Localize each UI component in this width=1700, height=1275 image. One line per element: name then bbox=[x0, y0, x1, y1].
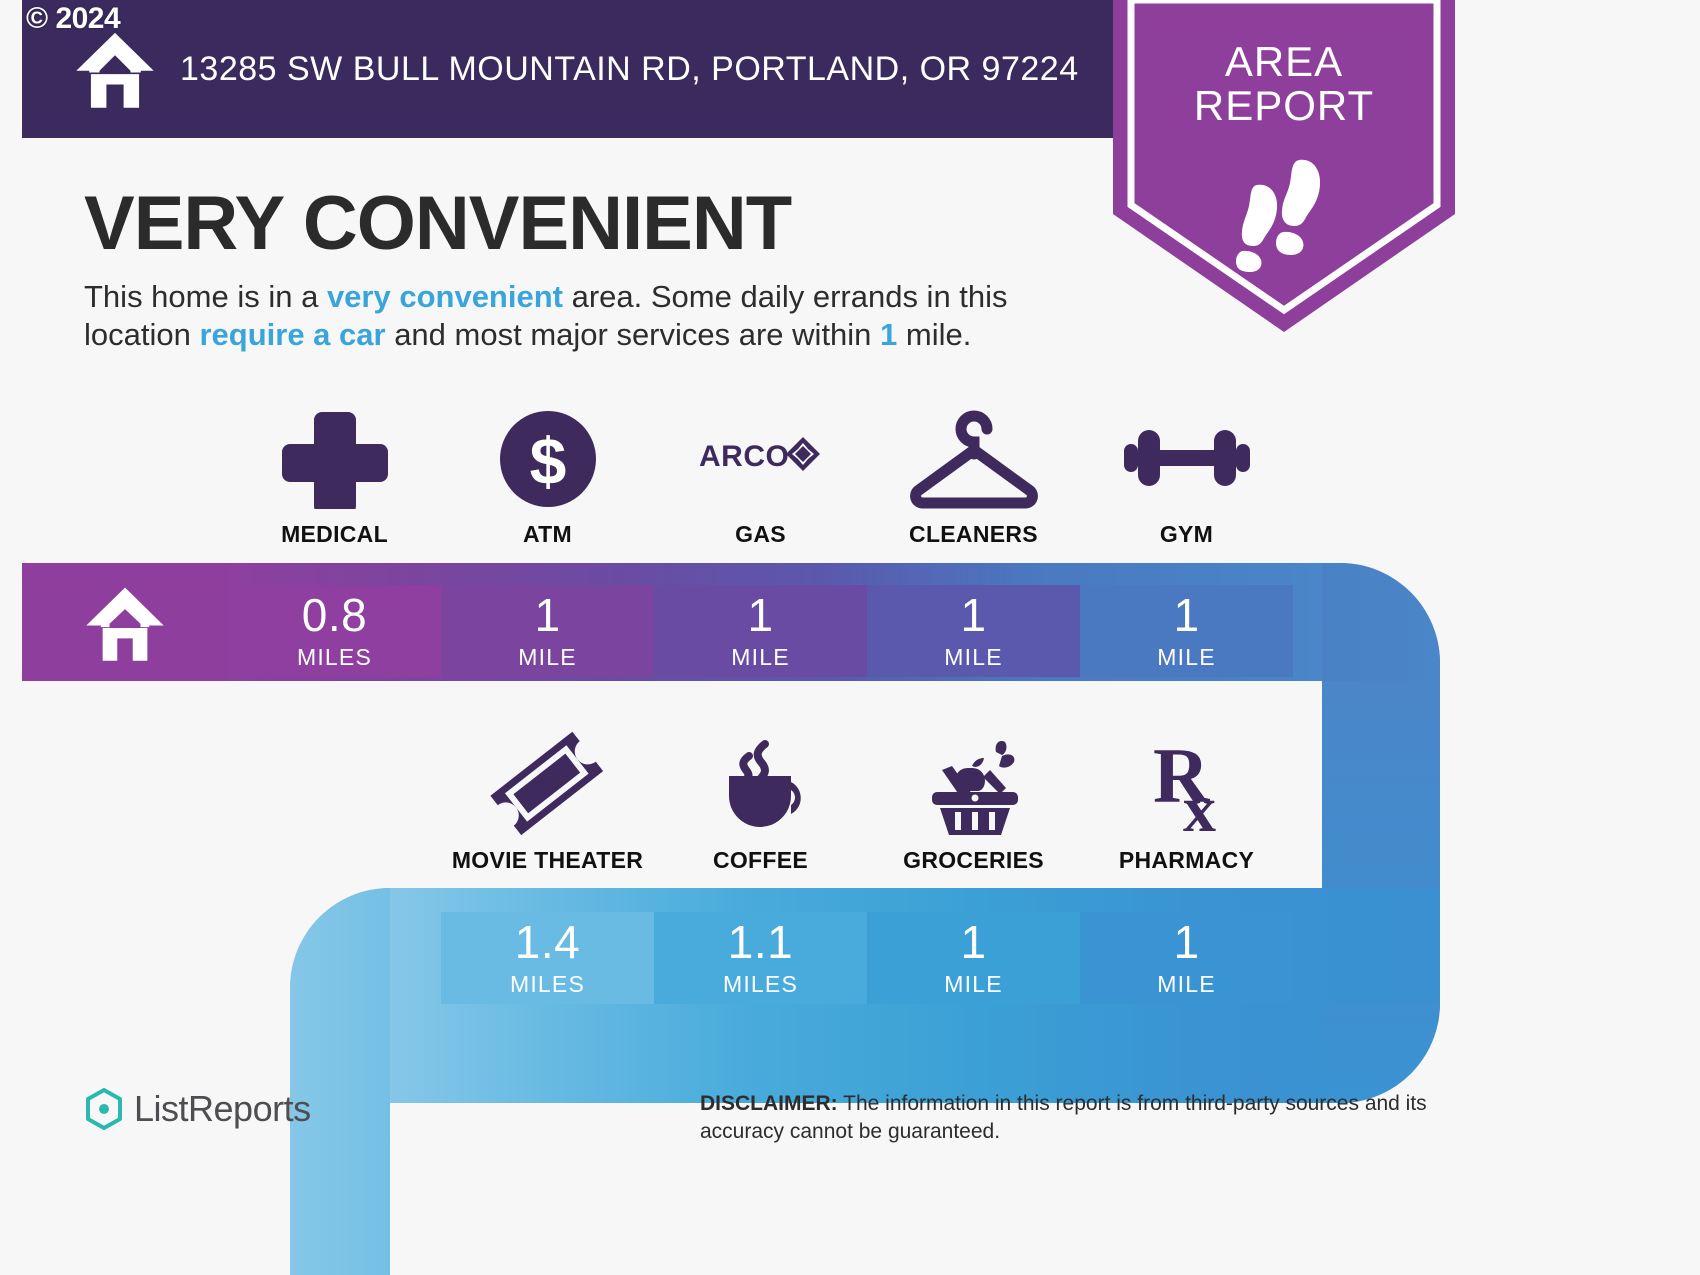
distance-value: 0.8 bbox=[302, 592, 367, 638]
distance-cell-medical: 0.8 MILES bbox=[228, 585, 441, 677]
intro-part-1: This home is in a bbox=[84, 279, 327, 314]
distance-value: 1 bbox=[960, 919, 986, 965]
disclaimer: DISCLAIMER: The information in this repo… bbox=[700, 1090, 1490, 1145]
amenity-gas: ARCO GAS bbox=[654, 404, 867, 548]
distance-unit: MILE bbox=[518, 644, 576, 671]
distance-unit: MILE bbox=[1157, 971, 1215, 998]
listreports-logo-icon bbox=[84, 1087, 124, 1131]
amenity-cleaners: CLEANERS bbox=[867, 404, 1080, 548]
listreports-logo: ListReports bbox=[84, 1087, 311, 1131]
distance-cell-coffee: 1.1 MILES bbox=[654, 912, 867, 1004]
distance-cell-groceries: 1 MILE bbox=[867, 912, 1080, 1004]
amenity-label: MEDICAL bbox=[281, 521, 388, 548]
intro-highlight-3: 1 bbox=[880, 317, 897, 352]
distance-unit: MILE bbox=[944, 971, 1002, 998]
amenity-groceries: GROCERIES bbox=[867, 730, 1080, 874]
distance-value: 1.1 bbox=[728, 919, 793, 965]
listreports-logo-text: ListReports bbox=[134, 1088, 311, 1130]
disclaimer-label: DISCLAIMER: bbox=[700, 1092, 838, 1115]
amenity-gym: GYM bbox=[1080, 404, 1293, 548]
distance-cell-gas: 1 MILE bbox=[654, 585, 867, 677]
amenity-icon-row-1: MEDICAL $ ATM ARCO GAS bbox=[228, 404, 1293, 548]
distance-value: 1 bbox=[1173, 919, 1199, 965]
amenity-label: GROCERIES bbox=[903, 847, 1044, 874]
medical-cross-icon bbox=[280, 404, 390, 509]
area-report-badge: AREA REPORT bbox=[1113, 0, 1455, 332]
intro-part-4: mile. bbox=[897, 317, 971, 352]
amenity-movie-theater: MOVIE THEATER bbox=[441, 730, 654, 874]
home-marker-chip bbox=[22, 563, 228, 681]
distance-value: 1 bbox=[1173, 592, 1199, 638]
distance-unit: MILE bbox=[1157, 644, 1215, 671]
amenity-medical: MEDICAL bbox=[228, 404, 441, 548]
distance-unit: MILES bbox=[510, 971, 585, 998]
amenity-label: COFFEE bbox=[713, 847, 808, 874]
copyright-label: © 2024 bbox=[26, 2, 120, 36]
amenity-label: ATM bbox=[523, 521, 572, 548]
amenity-label: GYM bbox=[1160, 521, 1213, 548]
intro-part-3: and most major services are within bbox=[386, 317, 880, 352]
home-icon bbox=[82, 579, 168, 665]
dollar-circle-icon: $ bbox=[498, 404, 598, 509]
amenity-label: PHARMACY bbox=[1119, 847, 1254, 874]
distance-unit: MILES bbox=[297, 644, 372, 671]
property-address: 13285 SW BULL MOUNTAIN RD, PORTLAND, OR … bbox=[180, 50, 1079, 89]
intro-paragraph: This home is in a very convenient area. … bbox=[84, 278, 1094, 354]
distance-row-2: 1.4 MILES 1.1 MILES 1 MILE 1 MILE bbox=[441, 912, 1293, 1004]
page-title: VERY CONVENIENT bbox=[84, 186, 791, 262]
svg-text:ARCO: ARCO bbox=[699, 440, 789, 473]
amenity-pharmacy: R x PHARMACY bbox=[1080, 730, 1293, 874]
amenity-label: MOVIE THEATER bbox=[452, 847, 643, 874]
distance-cell-pharmacy: 1 MILE bbox=[1080, 912, 1293, 1004]
distance-cell-atm: 1 MILE bbox=[441, 585, 654, 677]
distance-unit: MILE bbox=[731, 644, 789, 671]
distance-cell-gym: 1 MILE bbox=[1080, 585, 1293, 677]
badge-label: AREA REPORT bbox=[1113, 40, 1455, 127]
distance-unit: MILES bbox=[723, 971, 798, 998]
amenity-icon-row-2: MOVIE THEATER COFFEE bbox=[441, 730, 1293, 874]
amenity-label: CLEANERS bbox=[909, 521, 1038, 548]
distance-row-1: 0.8 MILES 1 MILE 1 MILE 1 MILE 1 MILE bbox=[228, 585, 1293, 677]
amenity-atm: $ ATM bbox=[441, 404, 654, 548]
distance-unit: MILE bbox=[944, 644, 1002, 671]
intro-highlight-1: very convenient bbox=[327, 279, 563, 314]
dumbbell-icon bbox=[1122, 404, 1252, 509]
distance-value: 1 bbox=[534, 592, 560, 638]
distance-cell-movie-theater: 1.4 MILES bbox=[441, 912, 654, 1004]
distance-value: 1.4 bbox=[515, 919, 580, 965]
movie-ticket-icon bbox=[488, 730, 608, 835]
home-icon bbox=[72, 26, 158, 112]
amenity-label: GAS bbox=[735, 521, 786, 548]
svg-text:x: x bbox=[1183, 773, 1216, 835]
intro-highlight-2: require a car bbox=[199, 317, 385, 352]
arco-gas-icon: ARCO bbox=[691, 404, 831, 509]
grocery-basket-icon bbox=[914, 730, 1034, 835]
coffee-cup-icon bbox=[701, 730, 821, 835]
rx-icon: R x bbox=[1127, 730, 1247, 835]
distance-cell-cleaners: 1 MILE bbox=[867, 585, 1080, 677]
hanger-icon bbox=[899, 404, 1049, 509]
distance-value: 1 bbox=[960, 592, 986, 638]
svg-text:$: $ bbox=[529, 424, 566, 498]
distance-value: 1 bbox=[747, 592, 773, 638]
amenity-coffee: COFFEE bbox=[654, 730, 867, 874]
